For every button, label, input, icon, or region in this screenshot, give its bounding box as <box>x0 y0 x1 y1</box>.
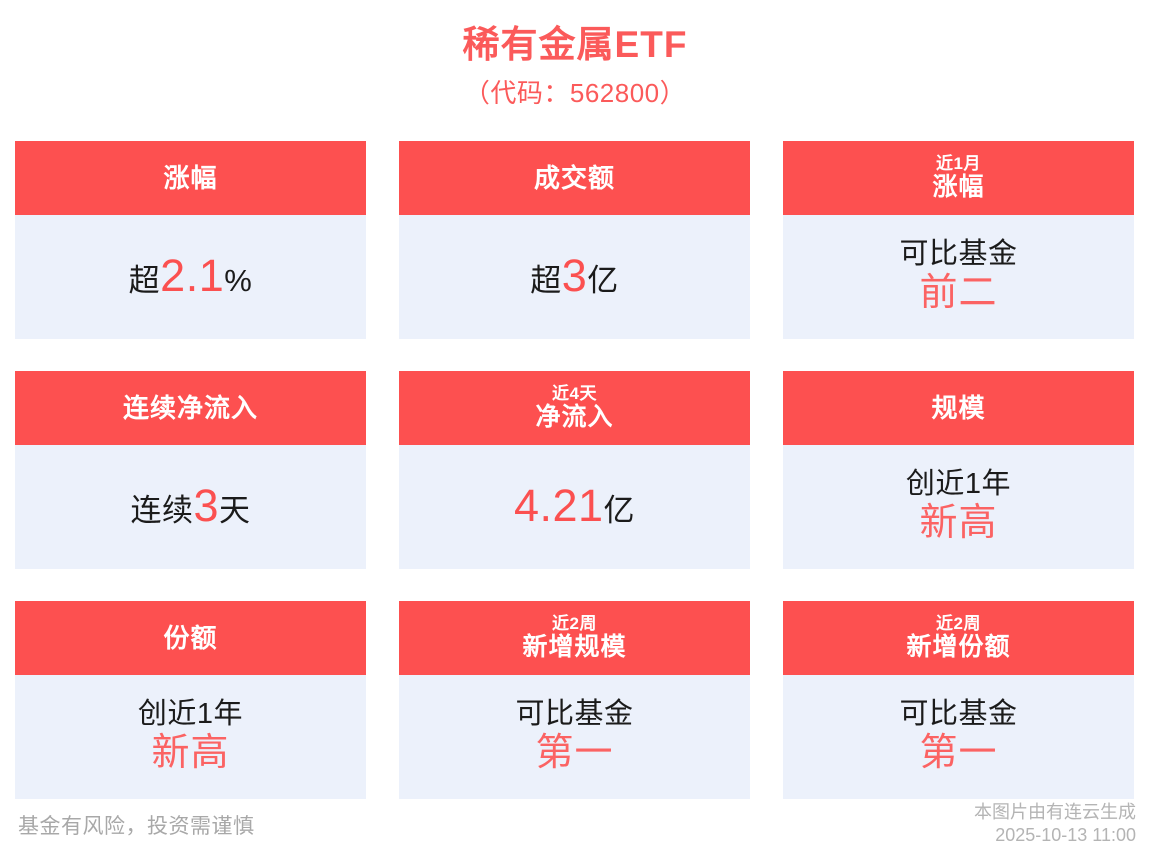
metric-card-body: 超3亿 <box>399 215 750 337</box>
metric-card: 成交额超3亿 <box>399 141 750 339</box>
metric-value: 2.1 <box>160 252 224 300</box>
metric-context-label: 可比基金 <box>899 699 1017 730</box>
metric-card-body: 可比基金第一 <box>783 675 1134 799</box>
metric-value-line: 4.21亿 <box>514 482 635 530</box>
metric-card-body: 可比基金第一 <box>399 675 750 799</box>
metric-period-label: 近4天 <box>552 385 597 403</box>
metric-period-label: 近2周 <box>936 615 981 633</box>
metric-card-body: 4.21亿 <box>399 445 750 567</box>
metric-value-prefix: 超 <box>129 265 161 298</box>
metric-card-header: 近2周新增规模 <box>399 601 750 675</box>
metric-highlight-value: 第一 <box>535 733 613 773</box>
metric-card-body: 创近1年新高 <box>783 445 1134 569</box>
metric-period-label: 近2周 <box>552 615 597 633</box>
generator-source: 本图片由有连云生成 <box>974 801 1136 825</box>
metric-value-line: 超2.1% <box>129 252 253 300</box>
metric-highlight-value: 新高 <box>151 733 229 773</box>
metric-value-unit: 亿 <box>587 265 619 298</box>
generation-credit: 本图片由有连云生成 2025-10-13 11:00 <box>974 801 1136 849</box>
metric-highlight-value: 前二 <box>919 273 997 313</box>
metric-card: 连续净流入连续3天 <box>15 371 366 569</box>
metric-card-body: 创近1年新高 <box>15 675 366 799</box>
metric-card-header: 涨幅 <box>15 141 366 215</box>
metric-period-label: 近1月 <box>936 155 981 173</box>
metric-card: 近2周新增规模可比基金第一 <box>399 601 750 799</box>
metric-context-label: 创近1年 <box>138 699 243 730</box>
metric-value-unit: % <box>224 265 252 298</box>
metric-value-prefix: 连续 <box>130 495 193 528</box>
metric-card-body: 连续3天 <box>15 445 366 567</box>
risk-disclaimer: 基金有风险，投资需谨慎 <box>18 810 255 840</box>
metric-value: 3 <box>562 252 588 300</box>
metric-card: 近2周新增份额可比基金第一 <box>783 601 1134 799</box>
metric-card-header: 连续净流入 <box>15 371 366 445</box>
page-title: 稀有金属ETF <box>0 22 1150 68</box>
metric-value-line: 超3亿 <box>530 252 619 300</box>
metric-highlight-value: 新高 <box>919 503 997 543</box>
metric-title: 新增规模 <box>522 634 626 661</box>
metric-highlight-value: 第一 <box>919 733 997 773</box>
metric-title: 涨幅 <box>163 164 217 192</box>
metric-card: 近4天净流入4.21亿 <box>399 371 750 569</box>
metric-card-header: 近2周新增份额 <box>783 601 1134 675</box>
generation-timestamp: 2025-10-13 11:00 <box>974 824 1136 848</box>
metric-card-grid: 涨幅超2.1%成交额超3亿近1月涨幅可比基金前二连续净流入连续3天近4天净流入4… <box>15 141 1135 799</box>
metric-title: 净流入 <box>535 404 613 431</box>
metric-title: 涨幅 <box>932 174 984 201</box>
metric-value-line: 连续3天 <box>130 482 250 530</box>
metric-card: 涨幅超2.1% <box>15 141 366 339</box>
page-header: 稀有金属ETF （代码：562800） <box>0 0 1150 113</box>
metric-context-label: 创近1年 <box>906 469 1011 500</box>
metric-context-label: 可比基金 <box>899 239 1017 270</box>
metric-card-body: 超2.1% <box>15 215 366 337</box>
metric-value-prefix: 超 <box>530 265 562 298</box>
metric-value: 4.21 <box>514 482 604 530</box>
metric-value-unit: 天 <box>219 495 251 528</box>
metric-card-header: 近4天净流入 <box>399 371 750 445</box>
metric-card: 规模创近1年新高 <box>783 371 1134 569</box>
metric-value-unit: 亿 <box>604 495 636 528</box>
metric-context-label: 可比基金 <box>515 699 633 730</box>
fund-code-subtitle: （代码：562800） <box>0 74 1150 113</box>
metric-title: 成交额 <box>534 164 615 192</box>
metric-card: 份额创近1年新高 <box>15 601 366 799</box>
metric-card-header: 近1月涨幅 <box>783 141 1134 215</box>
metric-title: 连续净流入 <box>123 394 258 422</box>
metric-title: 份额 <box>163 624 217 652</box>
metric-title: 新增份额 <box>906 634 1010 661</box>
metric-card: 近1月涨幅可比基金前二 <box>783 141 1134 339</box>
metric-card-body: 可比基金前二 <box>783 215 1134 339</box>
metric-card-header: 份额 <box>15 601 366 675</box>
metric-title: 规模 <box>931 394 985 422</box>
metric-card-header: 成交额 <box>399 141 750 215</box>
metric-card-header: 规模 <box>783 371 1134 445</box>
metric-value: 3 <box>193 482 219 530</box>
